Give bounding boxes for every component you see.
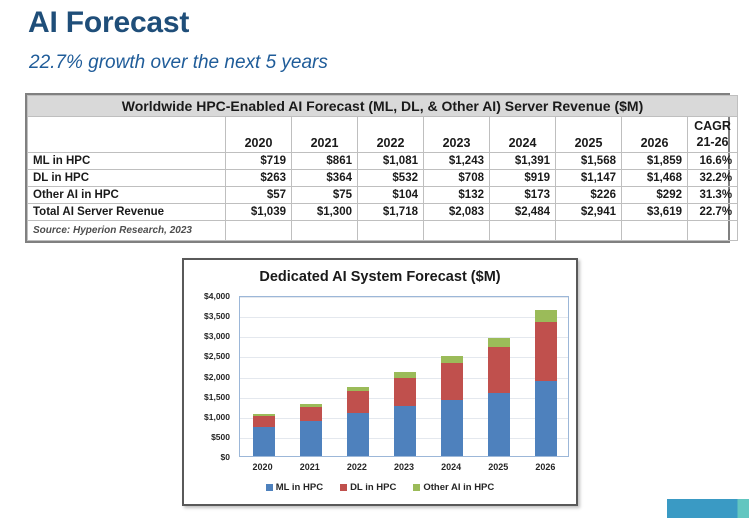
bar-segment-other-ai-in-hpc xyxy=(535,310,557,322)
cell-cagr: 22.7% xyxy=(688,204,738,221)
cell-cagr: 16.6% xyxy=(688,153,738,170)
forecast-table: Worldwide HPC-Enabled AI Forecast (ML, D… xyxy=(27,95,738,241)
table-source-row: Source: Hyperion Research, 2023 xyxy=(28,221,738,241)
bar-2025 xyxy=(488,338,510,456)
cell-2021: $364 xyxy=(292,170,358,187)
y-axis-tick-label: $2,500 xyxy=(204,351,230,361)
page-title: AI Forecast xyxy=(28,6,189,40)
cell-2025: $1,568 xyxy=(556,153,622,170)
bar-segment-ml-in-hpc xyxy=(300,421,322,456)
bar-2026 xyxy=(535,310,557,456)
cell-2022: $1,718 xyxy=(358,204,424,221)
x-axis-tick-label: 2023 xyxy=(382,462,426,472)
bar-segment-other-ai-in-hpc xyxy=(441,356,463,363)
x-axis-tick-label: 2026 xyxy=(523,462,567,472)
bar-segment-dl-in-hpc xyxy=(300,407,322,422)
chart-legend: ML in HPCDL in HPCOther AI in HPC xyxy=(184,482,576,493)
corner-accent-bar xyxy=(667,499,749,518)
bar-2021 xyxy=(300,404,322,456)
cell-2024: $1,391 xyxy=(490,153,556,170)
bar-segment-dl-in-hpc xyxy=(488,347,510,393)
table-header-row: 2020202120222023202420252026CAGR21-26 xyxy=(28,117,738,153)
cell-2025: $226 xyxy=(556,187,622,204)
bar-segment-ml-in-hpc xyxy=(488,393,510,456)
legend-label: Other AI in HPC xyxy=(423,482,494,493)
cell-2021: $75 xyxy=(292,187,358,204)
header-year-2025: 2025 xyxy=(556,117,622,153)
y-axis-tick-label: $1,000 xyxy=(204,412,230,422)
header-year-2024: 2024 xyxy=(490,117,556,153)
cell-2021: $1,300 xyxy=(292,204,358,221)
cell-2020: $1,039 xyxy=(226,204,292,221)
cell-2026: $1,468 xyxy=(622,170,688,187)
cell-2024: $173 xyxy=(490,187,556,204)
cell-2021: $861 xyxy=(292,153,358,170)
table-title: Worldwide HPC-Enabled AI Forecast (ML, D… xyxy=(28,96,738,117)
table-row: DL in HPC$263$364$532$708$919$1,147$1,46… xyxy=(28,170,738,187)
cell-cagr: 32.2% xyxy=(688,170,738,187)
cell-2026: $3,619 xyxy=(622,204,688,221)
legend-swatch-icon xyxy=(266,484,273,491)
y-axis-tick-label: $0 xyxy=(221,452,230,462)
gridline xyxy=(240,317,568,318)
header-blank xyxy=(28,117,226,153)
bar-segment-ml-in-hpc xyxy=(441,400,463,456)
legend-label: ML in HPC xyxy=(276,482,323,493)
bar-segment-ml-in-hpc xyxy=(347,413,369,457)
header-year-2023: 2023 xyxy=(424,117,490,153)
row-label: DL in HPC xyxy=(28,170,226,187)
row-label: ML in HPC xyxy=(28,153,226,170)
legend-item[interactable]: Other AI in HPC xyxy=(413,482,494,493)
bar-segment-ml-in-hpc xyxy=(394,406,416,456)
cell-2026: $1,859 xyxy=(622,153,688,170)
gridline xyxy=(240,297,568,298)
cell-2024: $2,484 xyxy=(490,204,556,221)
header-year-2026: 2026 xyxy=(622,117,688,153)
y-axis-tick-label: $3,500 xyxy=(204,311,230,321)
header-year-2021: 2021 xyxy=(292,117,358,153)
page-subtitle: 22.7% growth over the next 5 years xyxy=(29,52,328,74)
cell-2022: $104 xyxy=(358,187,424,204)
cell-2025: $1,147 xyxy=(556,170,622,187)
y-axis-tick-label: $1,500 xyxy=(204,392,230,402)
cell-2025: $2,941 xyxy=(556,204,622,221)
header-year-2022: 2022 xyxy=(358,117,424,153)
cell-2023: $132 xyxy=(424,187,490,204)
legend-swatch-icon xyxy=(413,484,420,491)
bar-segment-other-ai-in-hpc xyxy=(488,338,510,347)
legend-item[interactable]: ML in HPC xyxy=(266,482,323,493)
header-year-2020: 2020 xyxy=(226,117,292,153)
row-label: Other AI in HPC xyxy=(28,187,226,204)
legend-label: DL in HPC xyxy=(350,482,396,493)
chart-card: Dedicated AI System Forecast ($M) $4,000… xyxy=(182,258,578,506)
legend-item[interactable]: DL in HPC xyxy=(340,482,396,493)
table-row: Total AI Server Revenue$1,039$1,300$1,71… xyxy=(28,204,738,221)
cell-2023: $708 xyxy=(424,170,490,187)
y-axis-tick-label: $4,000 xyxy=(204,291,230,301)
bar-segment-dl-in-hpc xyxy=(253,416,275,427)
bar-2020 xyxy=(253,414,275,456)
x-axis-tick-label: 2024 xyxy=(429,462,473,472)
bar-segment-dl-in-hpc xyxy=(441,363,463,400)
table-row: Other AI in HPC$57$75$104$132$173$226$29… xyxy=(28,187,738,204)
x-axis-tick-label: 2020 xyxy=(241,462,285,472)
cell-2022: $532 xyxy=(358,170,424,187)
gridline xyxy=(240,337,568,338)
cell-2020: $263 xyxy=(226,170,292,187)
chart-plot-area xyxy=(239,296,569,457)
bar-2022 xyxy=(347,387,369,456)
forecast-table-container: Worldwide HPC-Enabled AI Forecast (ML, D… xyxy=(25,93,730,243)
bar-segment-dl-in-hpc xyxy=(394,378,416,406)
cell-2022: $1,081 xyxy=(358,153,424,170)
cell-2020: $57 xyxy=(226,187,292,204)
x-axis-tick-label: 2025 xyxy=(476,462,520,472)
y-axis-tick-label: $3,000 xyxy=(204,331,230,341)
bar-2024 xyxy=(441,356,463,456)
bar-segment-ml-in-hpc xyxy=(253,427,275,456)
cell-2023: $2,083 xyxy=(424,204,490,221)
cell-cagr: 31.3% xyxy=(688,187,738,204)
bar-2023 xyxy=(394,372,416,456)
y-axis-tick-label: $500 xyxy=(211,432,230,442)
cell-2026: $292 xyxy=(622,187,688,204)
cell-2024: $919 xyxy=(490,170,556,187)
x-axis-tick-label: 2022 xyxy=(335,462,379,472)
bar-segment-ml-in-hpc xyxy=(535,381,557,456)
x-axis-tick-label: 2021 xyxy=(288,462,332,472)
y-axis-tick-label: $2,000 xyxy=(204,372,230,382)
cell-2020: $719 xyxy=(226,153,292,170)
row-label: Total AI Server Revenue xyxy=(28,204,226,221)
table-row: ML in HPC$719$861$1,081$1,243$1,391$1,56… xyxy=(28,153,738,170)
chart-title: Dedicated AI System Forecast ($M) xyxy=(184,269,576,285)
table-source: Source: Hyperion Research, 2023 xyxy=(28,221,226,241)
header-cagr: CAGR21-26 xyxy=(688,117,738,153)
bar-segment-dl-in-hpc xyxy=(535,322,557,381)
table-title-row: Worldwide HPC-Enabled AI Forecast (ML, D… xyxy=(28,96,738,117)
gridline xyxy=(240,357,568,358)
bar-segment-dl-in-hpc xyxy=(347,391,369,412)
cell-2023: $1,243 xyxy=(424,153,490,170)
legend-swatch-icon xyxy=(340,484,347,491)
